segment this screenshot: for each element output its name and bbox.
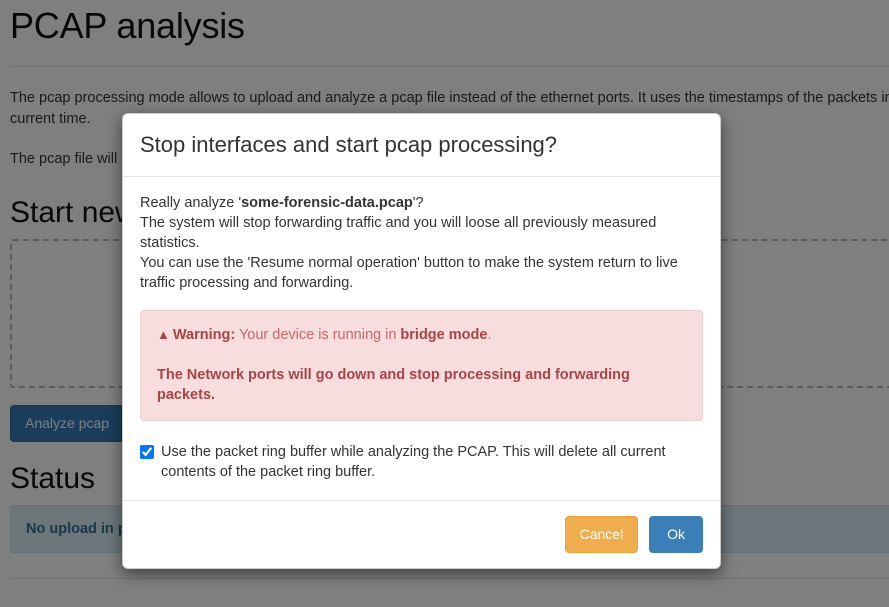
confirm-prefix: Really analyze ' bbox=[140, 195, 241, 211]
modal-footer: Cancel Ok bbox=[123, 500, 720, 568]
ring-buffer-checkbox[interactable] bbox=[140, 445, 154, 459]
modal-body-line3: You can use the 'Resume normal operation… bbox=[140, 255, 678, 291]
modal-header: Stop interfaces and start pcap processin… bbox=[123, 114, 720, 177]
warning-mode: bridge mode bbox=[400, 327, 487, 343]
warning-text-after: . bbox=[487, 327, 491, 343]
confirm-suffix: '? bbox=[413, 195, 424, 211]
warning-label: Warning: bbox=[173, 327, 235, 343]
warning-emphasis: The Network ports will go down and stop … bbox=[157, 365, 686, 405]
ok-button[interactable]: Ok bbox=[649, 516, 703, 553]
modal-body-line2: The system will stop forwarding traffic … bbox=[140, 215, 656, 251]
modal-title: Stop interfaces and start pcap processin… bbox=[140, 129, 703, 160]
warning-triangle-icon: ▲ bbox=[157, 327, 170, 342]
cancel-button[interactable]: Cancel bbox=[565, 516, 639, 553]
modal-body: Really analyze 'some-forensic-data.pcap'… bbox=[123, 177, 720, 500]
warning-text-before: Your device is running in bbox=[235, 327, 400, 343]
bridge-mode-warning-alert: ▲Warning: Your device is running in brid… bbox=[140, 310, 703, 421]
ring-buffer-checkbox-row[interactable]: Use the packet ring buffer while analyzi… bbox=[140, 442, 703, 482]
pcap-filename: some-forensic-data.pcap bbox=[241, 195, 413, 211]
ring-buffer-checkbox-label: Use the packet ring buffer while analyzi… bbox=[161, 442, 703, 482]
confirm-pcap-modal: Stop interfaces and start pcap processin… bbox=[122, 113, 721, 569]
modal-body-text: Really analyze 'some-forensic-data.pcap'… bbox=[140, 193, 703, 293]
warning-first-line: ▲Warning: Your device is running in brid… bbox=[157, 325, 686, 345]
